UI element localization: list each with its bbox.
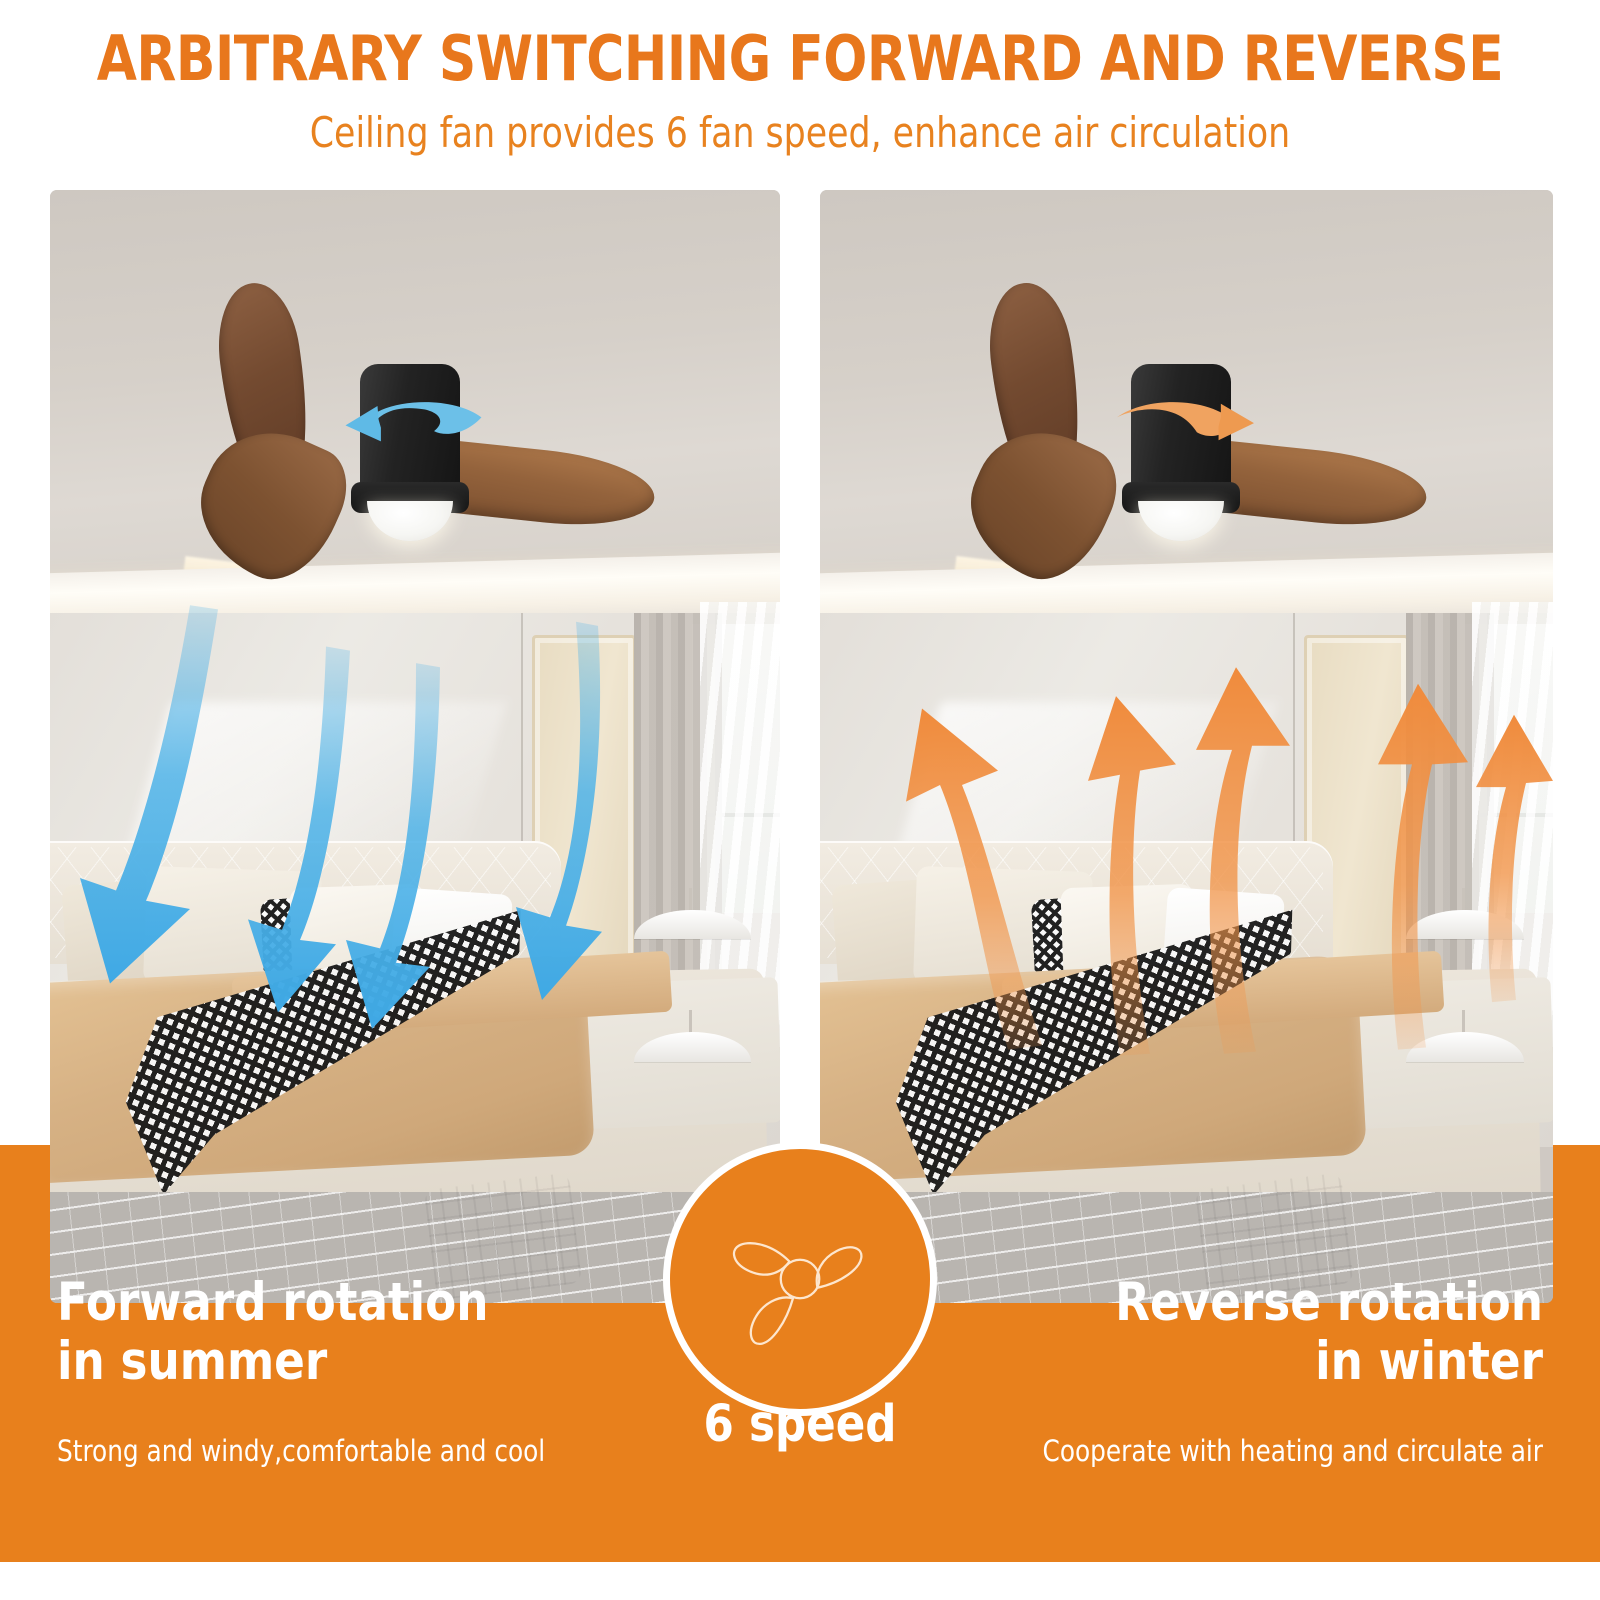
caption-forward: Forward rotation in summer Strong and wi… xyxy=(57,1273,697,1468)
caption-reverse-title-line1: Reverse rotation xyxy=(935,1273,1543,1332)
page-subtitle: Ceiling fan provides 6 fan speed, enhanc… xyxy=(64,108,1536,157)
caption-reverse-title-line2: in winter xyxy=(935,1332,1543,1391)
speed-badge xyxy=(663,1142,937,1416)
page-header: ARBITRARY SWITCHING FORWARD AND REVERSE … xyxy=(0,0,1600,180)
fan-led-light xyxy=(1138,501,1224,542)
ceiling-fan-icon xyxy=(713,1192,888,1367)
product-feature-page: ARBITRARY SWITCHING FORWARD AND REVERSE … xyxy=(0,0,1600,1600)
page-title: ARBITRARY SWITCHING FORWARD AND REVERSE xyxy=(56,22,1544,95)
fan-led-light xyxy=(367,501,453,542)
caption-reverse-subtitle: Cooperate with heating and circulate air xyxy=(935,1434,1543,1468)
photo-reverse-rotation xyxy=(820,190,1553,1303)
arrow-clockwise-icon xyxy=(1090,382,1281,451)
airflow-up-arrow-icon xyxy=(820,568,1553,1147)
ceiling-fan-left xyxy=(211,301,664,613)
bedroom-scene-left xyxy=(50,190,780,1303)
photo-forward-rotation xyxy=(50,190,780,1303)
arrow-counterclockwise-icon xyxy=(319,382,509,451)
bedroom-scene-right xyxy=(820,190,1553,1303)
caption-forward-title-line1: Forward rotation xyxy=(57,1273,665,1332)
caption-forward-subtitle: Strong and windy,comfortable and cool xyxy=(57,1434,665,1468)
caption-reverse: Reverse rotation in winter Cooperate wit… xyxy=(903,1273,1543,1468)
airflow-down-arrow-icon xyxy=(50,568,780,1147)
speed-badge-label: 6 speed xyxy=(670,1395,930,1454)
caption-forward-title-line2: in summer xyxy=(57,1332,665,1391)
ceiling-fan-right xyxy=(981,301,1435,613)
